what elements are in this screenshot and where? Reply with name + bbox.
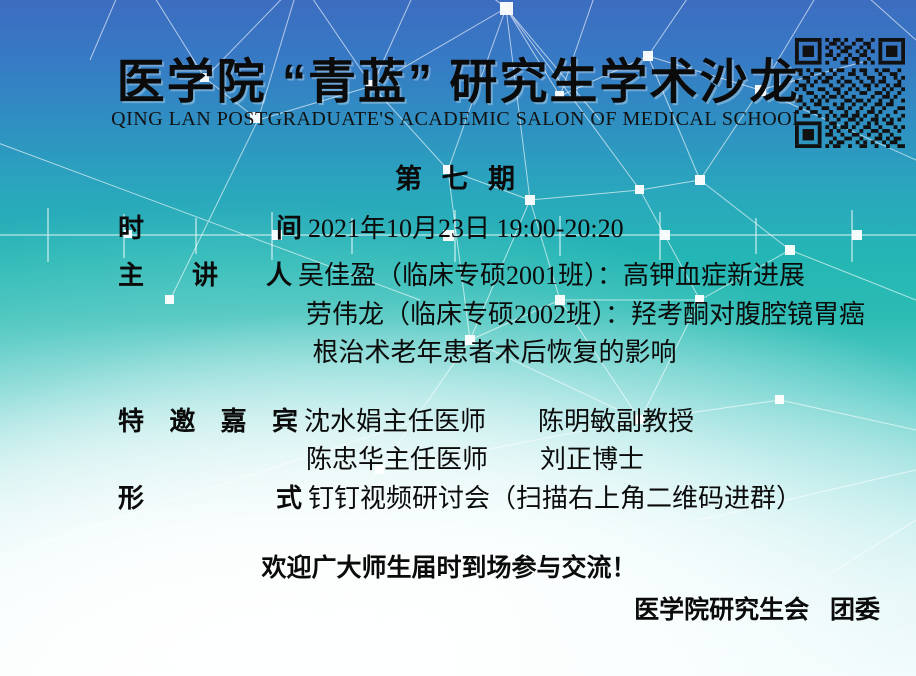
row-time: 时 间 2021年10月23日 19:00-20:20 [118,208,624,245]
page-subtitle: QING LAN POSTGRADUATE'S ACADEMIC SALON O… [0,108,916,131]
organizer-signoff: 医学院研究生会 团委 [634,590,880,626]
row-format-value: 钉钉视频研讨会（扫描右上角二维码进群） [308,478,802,515]
row-speaker-line-3: 根治术老年患者术后恢复的影响 [306,332,677,369]
poster-canvas: 医学院 “青蓝” 研究生学术沙龙 QING LAN POSTGRADUATE'S… [0,0,916,676]
row-speaker-label-char-2: 人 [266,255,292,292]
row-time-label-char-0: 时 [118,208,144,245]
row-guests-label: 特 邀 嘉 宾 [118,401,304,438]
poster-text-layer: 医学院 “青蓝” 研究生学术沙龙 QING LAN POSTGRADUATE'S… [0,0,916,676]
row-time-label: 时 间 [118,208,308,245]
row-speaker-label-char-0: 主 [118,255,144,292]
row-guests-label-char-2: 嘉 [221,401,247,438]
row-guests: 特 邀 嘉 宾 沈水娟主任医师 陈明敏副教授 [118,401,694,438]
row-speaker-value: 吴佳盈（临床专硕2001班）：高钾血症新进展 [298,255,805,292]
welcome-message: 欢迎广大师生届时到场参与交流！ [0,548,916,584]
row-guests-value: 沈水娟主任医师 陈明敏副教授 [304,401,694,438]
row-speaker-label-char-1: 讲 [192,255,218,292]
row-time-value: 2021年10月23日 19:00-20:20 [308,208,624,245]
row-format-label: 形 式 [118,478,308,515]
row-format-label-char-1: 式 [276,478,302,515]
row-guests-label-char-1: 邀 [169,401,195,438]
issue-number: 第 七 期 [0,157,916,196]
row-guests-line-2: 陈忠华主任医师 刘正博士 [306,439,644,476]
row-guests-label-char-0: 特 [118,401,144,438]
row-guests-label-char-3: 宾 [272,401,298,438]
row-speaker-label: 主 讲 人 [118,255,298,292]
row-speaker: 主 讲 人 吴佳盈（临床专硕2001班）：高钾血症新进展 [118,255,805,292]
row-speaker-line-2: 劳伟龙（临床专硕2002班）：羟考酮对腹腔镜胃癌 [306,294,865,331]
row-format-label-char-0: 形 [118,478,144,515]
row-format: 形 式 钉钉视频研讨会（扫描右上角二维码进群） [118,478,802,515]
page-title: 医学院 “青蓝” 研究生学术沙龙 [0,42,916,112]
row-time-label-char-1: 间 [276,208,302,245]
